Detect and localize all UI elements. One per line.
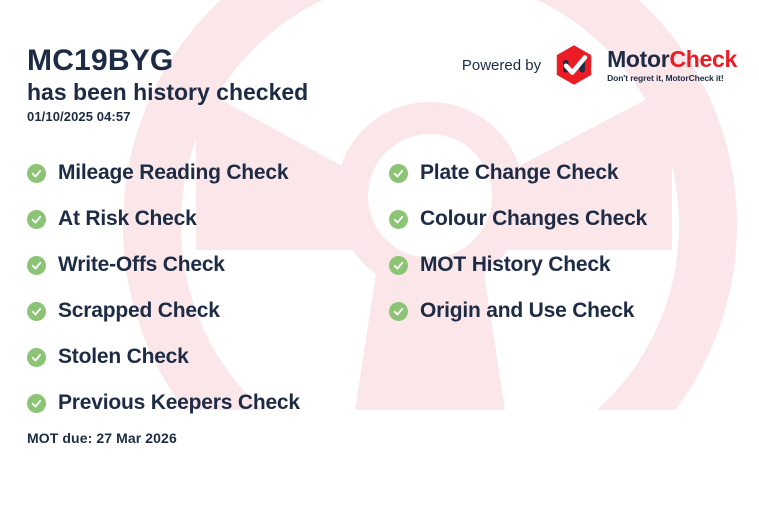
check-item-colour-changes: Colour Changes Check: [389, 196, 733, 242]
check-item-mot-history: MOT History Check: [389, 242, 733, 288]
check-item-scrapped: Scrapped Check: [27, 288, 389, 334]
green-check-circle-icon: [389, 210, 408, 229]
green-check-circle-icon: [27, 256, 46, 275]
wordmark-motor: Motor: [607, 46, 669, 72]
history-check-summary-card: MC19BYG has been history checked 01/10/2…: [0, 0, 759, 506]
motorcheck-hexagon-logo-icon: [553, 44, 595, 86]
green-check-circle-icon: [27, 210, 46, 229]
green-check-circle-icon: [27, 164, 46, 183]
header: MC19BYG has been history checked 01/10/2…: [27, 44, 308, 124]
header-subtitle: has been history checked: [27, 78, 308, 106]
checks-right-column: Plate Change Check Colour Changes Check …: [389, 150, 733, 426]
brand-tagline: Don't regret it, MotorCheck it!: [607, 74, 737, 83]
check-label: Colour Changes Check: [420, 207, 647, 231]
motorcheck-wordmark: MotorCheck Don't regret it, MotorCheck i…: [607, 48, 737, 83]
check-label: Write-Offs Check: [58, 253, 225, 277]
check-item-stolen: Stolen Check: [27, 334, 389, 380]
brand-lockup: Powered by MotorCheck Don't regret it, M…: [462, 44, 737, 86]
green-check-circle-icon: [389, 256, 408, 275]
check-item-at-risk: At Risk Check: [27, 196, 389, 242]
mot-due-text: MOT due: 27 Mar 2026: [27, 430, 177, 446]
check-label: Previous Keepers Check: [58, 391, 300, 415]
check-label: Scrapped Check: [58, 299, 220, 323]
checks-grid: Mileage Reading Check At Risk Check Writ…: [27, 150, 733, 426]
check-item-mileage-reading: Mileage Reading Check: [27, 150, 389, 196]
check-label: Mileage Reading Check: [58, 161, 288, 185]
check-timestamp: 01/10/2025 04:57: [27, 109, 308, 124]
green-check-circle-icon: [389, 164, 408, 183]
green-check-circle-icon: [27, 348, 46, 367]
check-item-origin-and-use: Origin and Use Check: [389, 288, 733, 334]
check-label: Origin and Use Check: [420, 299, 634, 323]
check-label: At Risk Check: [58, 207, 197, 231]
check-label: MOT History Check: [420, 253, 610, 277]
check-item-write-offs: Write-Offs Check: [27, 242, 389, 288]
check-label: Stolen Check: [58, 345, 189, 369]
green-check-circle-icon: [27, 394, 46, 413]
footer: MOT due: 27 Mar 2026: [27, 430, 177, 446]
green-check-circle-icon: [389, 302, 408, 321]
checks-left-column: Mileage Reading Check At Risk Check Writ…: [27, 150, 389, 426]
check-item-previous-keepers: Previous Keepers Check: [27, 380, 389, 426]
wordmark-check: Check: [669, 46, 737, 72]
vehicle-registration: MC19BYG: [27, 44, 308, 78]
powered-by-label: Powered by: [462, 57, 541, 74]
green-check-circle-icon: [27, 302, 46, 321]
check-item-plate-change: Plate Change Check: [389, 150, 733, 196]
check-label: Plate Change Check: [420, 161, 618, 185]
